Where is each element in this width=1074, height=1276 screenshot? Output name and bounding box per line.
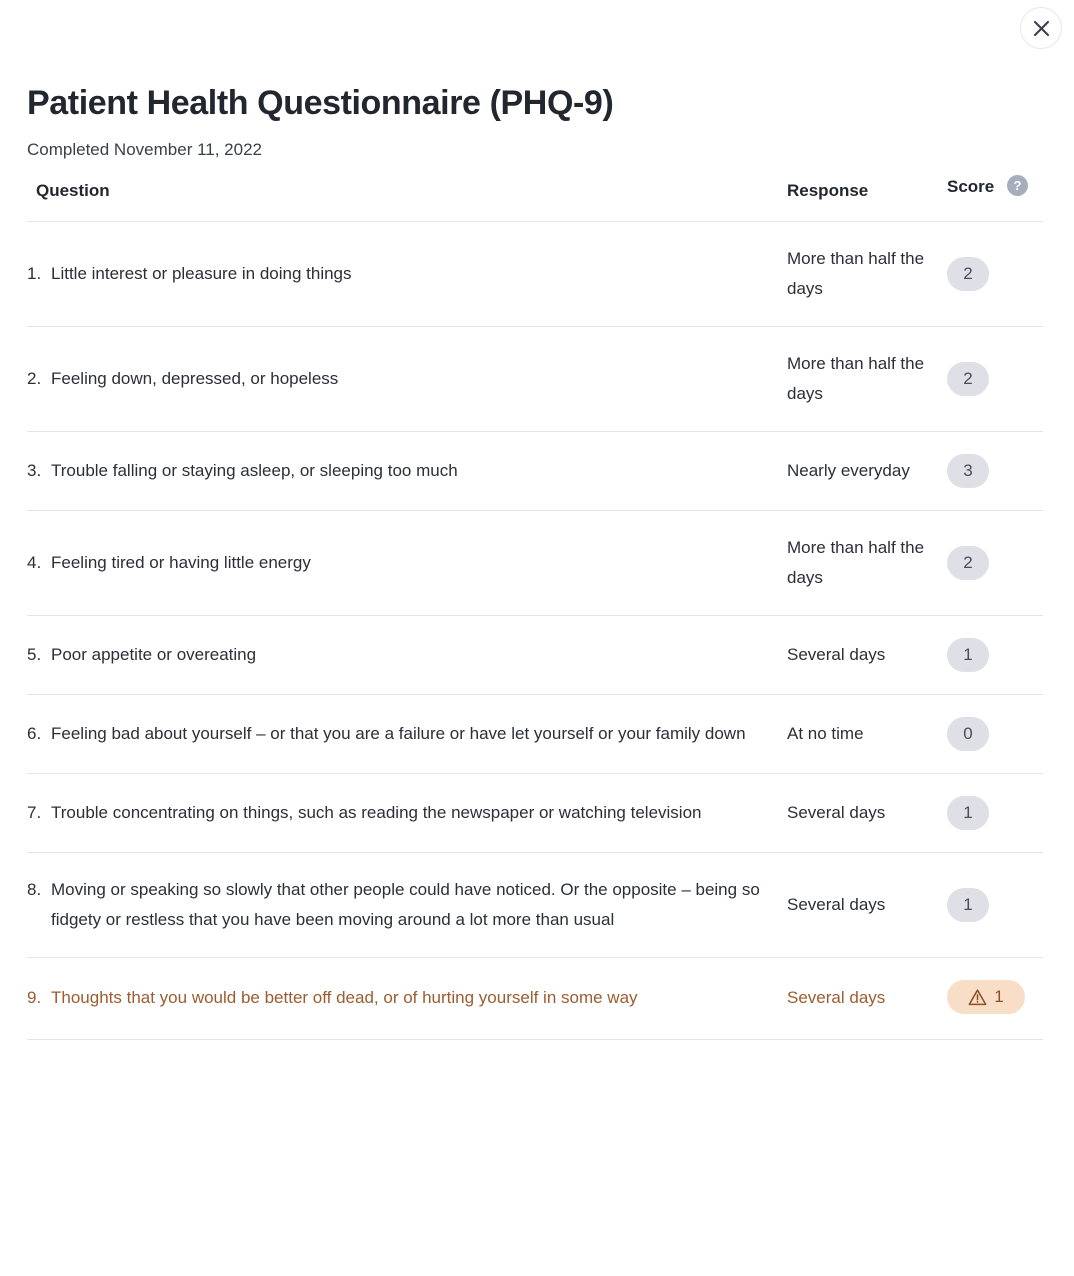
score-badge: 2 (947, 362, 989, 396)
question-cell: 3.Trouble falling or staying asleep, or … (27, 432, 787, 511)
score-badge: 3 (947, 454, 989, 488)
table-row: 5.Poor appetite or overeating Several da… (27, 616, 1043, 695)
score-badge: 1 (947, 796, 989, 830)
column-header-response: Response (787, 175, 947, 222)
question-number: 1. (27, 259, 51, 289)
response-cell: Several days (787, 853, 947, 958)
table-row: 7.Trouble concentrating on things, such … (27, 774, 1043, 853)
question-cell: 7.Trouble concentrating on things, such … (27, 774, 787, 853)
table-row: 3.Trouble falling or staying asleep, or … (27, 432, 1043, 511)
question-number: 8. (27, 875, 51, 905)
table-body: 1.Little interest or pleasure in doing t… (27, 222, 1043, 1040)
score-badge: 0 (947, 717, 989, 751)
question-cell: 6.Feeling bad about yourself – or that y… (27, 695, 787, 774)
questionnaire-panel: Patient Health Questionnaire (PHQ-9) Com… (0, 0, 1074, 1040)
score-badge: 2 (947, 257, 989, 291)
response-cell: Several days (787, 958, 947, 1040)
score-cell: 0 (947, 695, 1043, 774)
question-cell: 9.Thoughts that you would be better off … (27, 958, 787, 1040)
score-cell: 2 (947, 222, 1043, 327)
questionnaire-table: Question Response Score ? 1.Little inter… (27, 175, 1043, 1040)
response-cell: Nearly everyday (787, 432, 947, 511)
question-number: 5. (27, 640, 51, 670)
column-header-question: Question (27, 175, 787, 222)
question-cell: 4.Feeling tired or having little energy (27, 511, 787, 616)
column-header-score-label: Score (947, 177, 994, 196)
score-badge: 1 (947, 888, 989, 922)
column-header-score: Score ? (947, 175, 1043, 222)
response-cell: More than half the days (787, 222, 947, 327)
score-badge: 1 (947, 638, 989, 672)
question-text: Feeling down, depressed, or hopeless (51, 364, 785, 394)
score-cell: 1 (947, 853, 1043, 958)
completion-date: Completed November 11, 2022 (27, 124, 1047, 161)
response-cell: More than half the days (787, 327, 947, 432)
question-number: 2. (27, 364, 51, 394)
close-dialog-button[interactable] (1020, 7, 1062, 49)
table-row: 6.Feeling bad about yourself – or that y… (27, 695, 1043, 774)
question-text: Feeling bad about yourself – or that you… (51, 719, 785, 749)
question-text: Little interest or pleasure in doing thi… (51, 259, 785, 289)
question-number: 6. (27, 719, 51, 749)
page-title: Patient Health Questionnaire (PHQ-9) (27, 0, 1047, 124)
table-row: 1.Little interest or pleasure in doing t… (27, 222, 1043, 327)
score-cell: 2 (947, 511, 1043, 616)
question-cell: 2.Feeling down, depressed, or hopeless (27, 327, 787, 432)
table-row: 8.Moving or speaking so slowly that othe… (27, 853, 1043, 958)
question-text: Feeling tired or having little energy (51, 548, 785, 578)
warning-triangle-icon (968, 988, 987, 1007)
question-text: Thoughts that you would be better off de… (51, 983, 785, 1013)
score-cell: 2 (947, 327, 1043, 432)
table-row: 2.Feeling down, depressed, or hopeless M… (27, 327, 1043, 432)
question-text: Trouble falling or staying asleep, or sl… (51, 456, 785, 486)
question-cell: 8.Moving or speaking so slowly that othe… (27, 853, 787, 958)
score-badge: 2 (947, 546, 989, 580)
question-number: 9. (27, 983, 51, 1013)
score-cell: 3 (947, 432, 1043, 511)
table-row: 4.Feeling tired or having little energy … (27, 511, 1043, 616)
question-text: Trouble concentrating on things, such as… (51, 798, 785, 828)
question-text: Moving or speaking so slowly that other … (51, 875, 785, 935)
score-cell: 1 (947, 774, 1043, 853)
help-circle-icon[interactable]: ? (1007, 175, 1028, 202)
table-header: Question Response Score ? (27, 175, 1043, 222)
response-cell: At no time (787, 695, 947, 774)
score-cell: 1 (947, 958, 1043, 1040)
response-cell: More than half the days (787, 511, 947, 616)
question-number: 7. (27, 798, 51, 828)
svg-text:?: ? (1014, 178, 1022, 193)
score-badge-alert: 1 (947, 980, 1025, 1014)
question-text: Poor appetite or overeating (51, 640, 785, 670)
score-badge-value: 1 (994, 980, 1003, 1014)
table-row-alert: 9.Thoughts that you would be better off … (27, 958, 1043, 1040)
question-number: 4. (27, 548, 51, 578)
close-icon (1033, 20, 1050, 37)
question-number: 3. (27, 456, 51, 486)
score-cell: 1 (947, 616, 1043, 695)
question-cell: 5.Poor appetite or overeating (27, 616, 787, 695)
response-cell: Several days (787, 774, 947, 853)
question-cell: 1.Little interest or pleasure in doing t… (27, 222, 787, 327)
response-cell: Several days (787, 616, 947, 695)
